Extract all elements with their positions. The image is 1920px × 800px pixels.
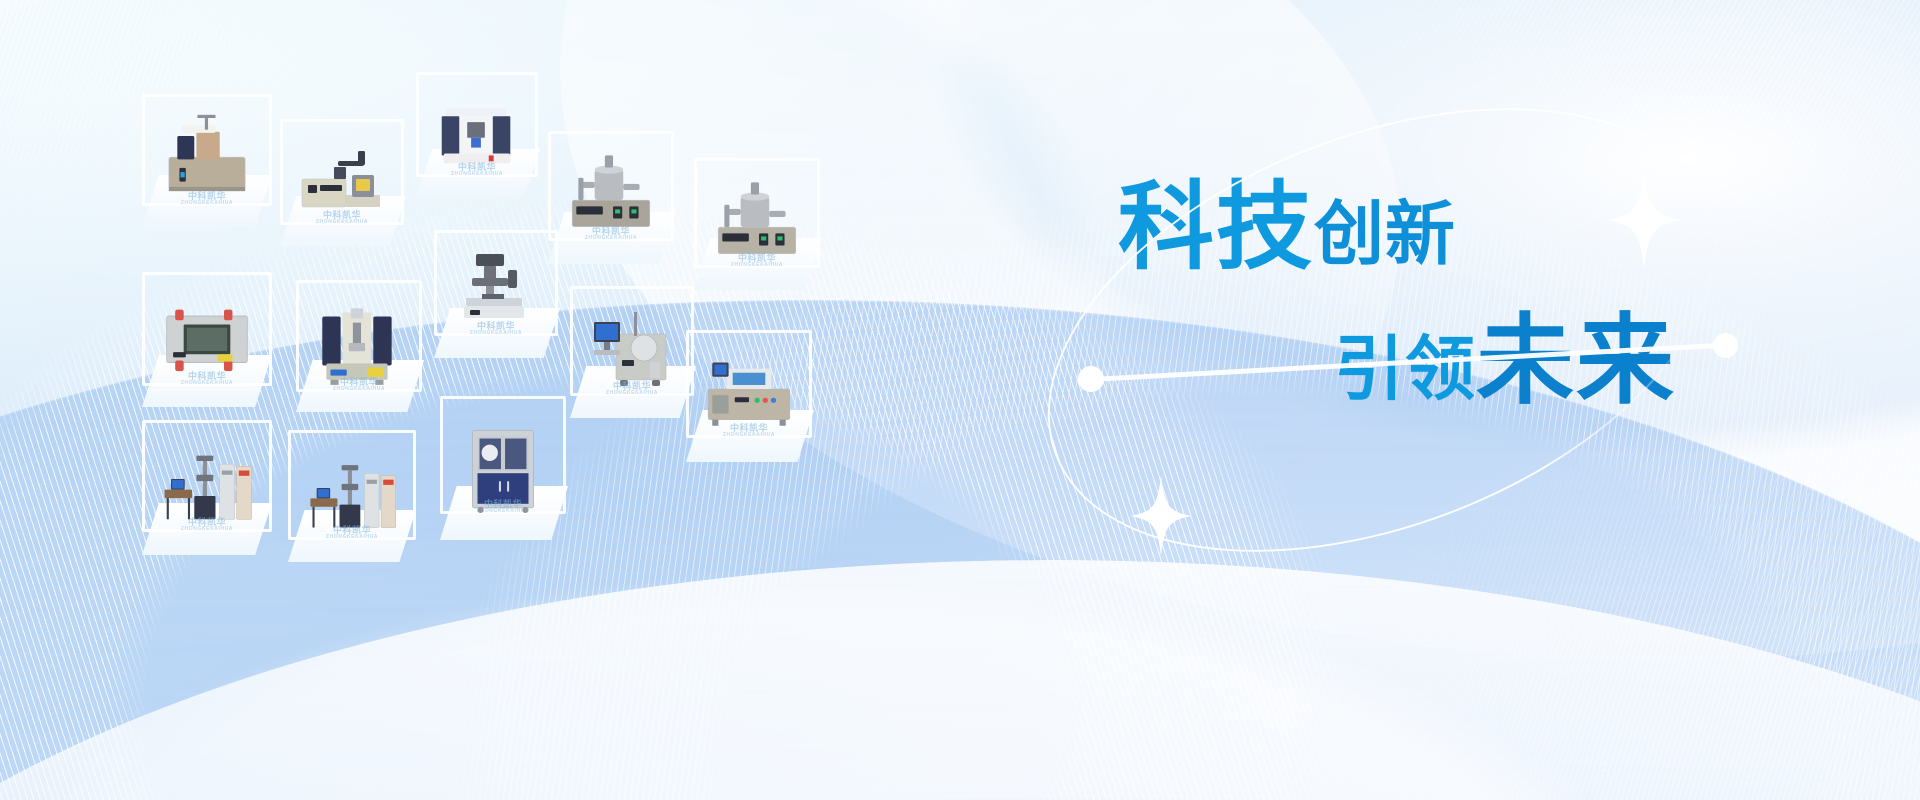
- hero-banner: 中科凯华ZHONGKEKAIHUA 中科凯华ZHONGKEKAIHUA 中科凯华…: [0, 0, 1920, 800]
- headline-line-1: 科技 创新: [1118, 182, 1678, 273]
- headline-word-weilai: 未来: [1476, 315, 1676, 408]
- headline-block: 科技 创新 引领 未来: [1118, 182, 1678, 408]
- headline-word-keji: 科技: [1118, 182, 1314, 273]
- headline-word-yinling: 引领: [1334, 334, 1476, 408]
- headline-word-chuangxin: 创新: [1314, 199, 1456, 273]
- headline-line-2: 引领 未来: [1118, 315, 1678, 408]
- product-watermark: 中科凯华ZHONGKEKAIHUA: [477, 500, 529, 515]
- watermark-en: ZHONGKEKAIHUA: [477, 509, 529, 514]
